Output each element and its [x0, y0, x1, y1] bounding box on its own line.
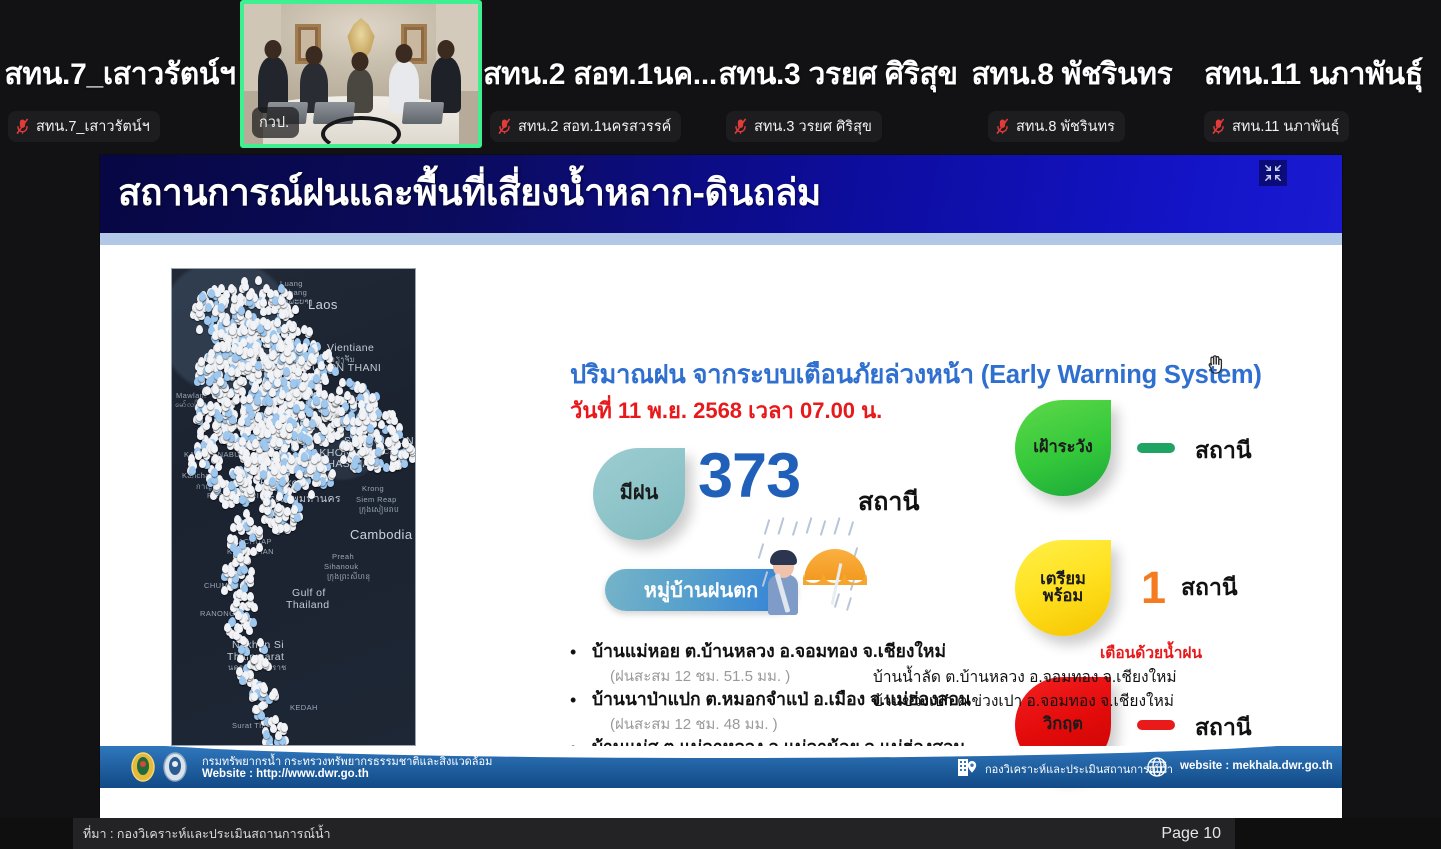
- map-station-pin: [223, 487, 230, 496]
- map-station-pin: [274, 318, 281, 327]
- map-station-pin: [296, 470, 303, 479]
- participant-nametag: สทน.3 วรยศ ศิริสุข: [726, 111, 882, 142]
- map-station-pin: [236, 522, 243, 531]
- map-station-pin: [241, 565, 248, 574]
- map-station-pin: [252, 439, 259, 448]
- map-station-pin: [233, 598, 240, 607]
- map-station-pin: [260, 470, 267, 479]
- map-station-pin: [292, 305, 299, 314]
- map-station-pin: [401, 459, 408, 468]
- collapse-arrows-icon[interactable]: [1259, 160, 1287, 186]
- video-participant-strip: สทน.7_เสาวรัตน์ฯ สทน.7_เสาวรัตน์ฯ: [0, 0, 1441, 155]
- map-station-pin: [198, 357, 205, 366]
- map-station-pin: [211, 444, 218, 453]
- map-station-pin: [391, 446, 398, 455]
- map-station-pin: [275, 503, 282, 512]
- globe-icon: [1145, 755, 1169, 779]
- map-station-pin: [257, 324, 264, 333]
- map-station-pin: [216, 413, 223, 422]
- shared-slide: สถานการณ์ฝนและพื้นที่เสี่ยงน้ำหลาก-ดินถล…: [100, 155, 1342, 818]
- map-station-pin: [260, 298, 267, 307]
- map-place-label: KEDAH: [290, 703, 318, 712]
- status-summary: เฝ้าระวัง สถานี เตรียมพร้อม 1 สถานี วิกฤ…: [1005, 245, 1365, 665]
- status-prepare-unit: สถานี: [1181, 570, 1238, 606]
- map-station-pin: [275, 731, 282, 740]
- rain-station-unit: สถานี: [858, 482, 920, 522]
- map-station-pin: [250, 547, 257, 556]
- map-station-pin: [285, 392, 292, 401]
- map-station-pin: [246, 626, 253, 635]
- map-place-label: Laos: [308, 297, 338, 312]
- participant-display-name: สทน.3 วรยศ ศิริสุข: [718, 51, 957, 98]
- map-station-pin: [281, 324, 288, 333]
- participant-display-name: สทน.7_เสาวรัตน์ฯ: [4, 51, 235, 98]
- map-station-pin: [306, 408, 313, 417]
- map-station-pin: [222, 500, 229, 509]
- map-station-pin: [329, 469, 336, 478]
- map-station-pin: [269, 351, 276, 360]
- map-station-pin: [246, 394, 253, 403]
- status-drop-prepare: เตรียมพร้อม: [1015, 540, 1111, 636]
- slide-title: สถานการณ์ฝนและพื้นที่เสี่ยงน้ำหลาก-ดินถล…: [118, 163, 821, 222]
- status-drop-prepare-label: เตรียมพร้อม: [1040, 571, 1086, 606]
- map-station-pin: [301, 452, 308, 461]
- map-station-pin: [207, 401, 214, 410]
- slide-content: ปริมาณฝน จากระบบเตือนภัยล่วงหน้า (Early …: [440, 245, 1342, 788]
- map-station-pin: [236, 346, 243, 355]
- village-bullet-item: •บ้านแม่หอย ต.บ้านหลวง อ.จอมทอง จ.เชียงใ…: [570, 640, 971, 664]
- map-station-pin: [317, 463, 324, 472]
- map-station-pin: [196, 308, 203, 317]
- map-station-pin: [269, 691, 276, 700]
- map-station-pin: [267, 289, 274, 298]
- map-station-pin: [205, 364, 212, 373]
- participant-nametag: สทน.11 นภาพันธุ์: [1204, 111, 1349, 142]
- participant-nametag: กวป.: [252, 107, 299, 138]
- map-station-pin: [322, 376, 329, 385]
- map-station-pin: [284, 347, 291, 356]
- bottom-status-bar: ที่มา : กองวิเคราะห์และประเมินสถานการณ์น…: [0, 818, 1441, 849]
- section-date: วันที่ 11 พ.ย. 2568 เวลา 07.00 น.: [570, 393, 882, 428]
- map-station-pin: [203, 421, 210, 430]
- map-station-pin: [204, 386, 211, 395]
- map-station-pin: [228, 568, 235, 577]
- map-station-pin: [212, 421, 219, 430]
- map-station-pin: [298, 356, 305, 365]
- map-station-pin: [264, 506, 271, 515]
- map-station-pin: [250, 321, 257, 330]
- map-station-pin: [272, 525, 279, 534]
- footer-website: website : mekhala.dwr.go.th: [1180, 760, 1333, 772]
- village-name: บ้านแม่หอย ต.บ้านหลวง อ.จอมทอง จ.เชียงให…: [592, 640, 946, 664]
- map-station-pin: [262, 658, 269, 667]
- map-station-pin: [229, 326, 236, 335]
- map-station-pin: [284, 507, 291, 516]
- map-station-pin: [269, 477, 276, 486]
- map-station-pin: [293, 404, 300, 413]
- map-station-pin: [309, 419, 316, 428]
- footer-org-line-2: Website : http://www.dwr.go.th: [202, 768, 369, 780]
- map-station-pin: [375, 447, 382, 456]
- video-tile-5[interactable]: สทน.11 นภาพันธุ์ สทน.11 นภาพันธุ์: [1186, 0, 1441, 148]
- map-station-pin: [346, 378, 353, 387]
- map-station-pin: [247, 517, 254, 526]
- map-station-pin: [344, 391, 351, 400]
- map-station-pin: [255, 483, 262, 492]
- map-station-pin: [224, 398, 231, 407]
- map-station-pin: [306, 327, 313, 336]
- map-station-pin: [367, 424, 374, 433]
- status-critical-unit: สถานี: [1195, 710, 1252, 746]
- slide-source-text: ที่มา : กองวิเคราะห์และประเมินสถานการณ์น…: [83, 824, 331, 844]
- map-station-pin: [251, 384, 258, 393]
- page-indicator: Page 10: [1161, 818, 1221, 849]
- map-station-pin: [321, 426, 328, 435]
- map-station-pin: [328, 434, 335, 443]
- map-station-pin: [257, 638, 264, 647]
- map-station-pin: [241, 326, 248, 335]
- map-place-label: ក្រុងព្រះសីហនុ: [327, 572, 371, 583]
- rain-drop-label: มีฝน: [620, 483, 659, 504]
- mic-muted-icon: [497, 118, 512, 135]
- rain-warning-title: เตือนด้วยน้ำฝน: [1100, 640, 1202, 665]
- participant-display-name: สทน.2 สอท.1นค...: [483, 51, 717, 98]
- participant-nametag-label: สทน.7_เสาวรัตน์ฯ: [36, 115, 150, 138]
- map-station-pin: [266, 397, 273, 406]
- rain-drop-badge: มีฝน: [593, 448, 685, 540]
- map-station-pin: [283, 523, 290, 532]
- map-place-label: Thailand: [286, 599, 329, 611]
- map-station-pin: [199, 459, 206, 468]
- map-station-pin: [340, 455, 347, 464]
- map-station-pin: [265, 406, 272, 415]
- map-station-pin: [313, 472, 320, 481]
- map-station-pin: [246, 291, 253, 300]
- map-station-pin: [280, 465, 287, 474]
- map-station-pin: [295, 367, 302, 376]
- video-tile-1-active-speaker[interactable]: กวป.: [240, 0, 482, 148]
- map-station-pin: [233, 631, 240, 640]
- slide-header: สถานการณ์ฝนและพื้นที่เสี่ยงน้ำหลาก-ดินถล…: [100, 155, 1342, 233]
- status-watch-value-dash: [1137, 443, 1175, 453]
- map-station-pin: [239, 437, 246, 446]
- hand-cursor-icon: [1205, 352, 1227, 376]
- bullet-glyph: •: [570, 688, 592, 712]
- map-station-pin: [240, 636, 247, 645]
- map-station-pin: [328, 393, 335, 402]
- map-station-pin: [290, 379, 297, 388]
- map-station-pin: [292, 442, 299, 451]
- map-station-pin: [281, 723, 288, 732]
- map-station-pin: [385, 438, 392, 447]
- map-station-pin: [279, 390, 286, 399]
- map-station-pin: [255, 276, 262, 285]
- rain-umbrella-illustration: [758, 517, 868, 615]
- participant-nametag: สทน.8 พัชรินทร: [988, 111, 1125, 142]
- map-station-pin: [313, 396, 320, 405]
- video-tile-0[interactable]: สทน.7_เสาวรัตน์ฯ สทน.7_เสาวรัตน์ฯ: [0, 0, 240, 148]
- village-rain-detail: (ฝนสะสม 12 ชม. 48 มม. ): [610, 714, 971, 736]
- video-tile-3[interactable]: สทน.3 วรยศ ศิริสุข สทน.3 วรยศ ศิริสุข: [718, 0, 958, 148]
- map-station-pin: [254, 396, 261, 405]
- map-station-pin: [334, 431, 341, 440]
- thailand-rain-station-map[interactable]: LuangPrabangຫຼວງພະບາງLaosVientianeວຽງຈັນ…: [171, 268, 416, 746]
- map-station-pin: [259, 701, 266, 710]
- participant-display-name: สทน.8 พัชรินทร: [972, 51, 1173, 98]
- app-root: สทน.7_เสาวรัตน์ฯ สทน.7_เสาวรัตน์ฯ: [0, 0, 1441, 849]
- map-station-pin: [247, 574, 254, 583]
- slide-source-note: ที่มา : กองวิเคราะห์และประเมินสถานการณ์น…: [73, 818, 1235, 849]
- participant-nametag-label: สทน.2 สอท.1นครสวรรค์: [518, 115, 671, 138]
- map-station-pin: [286, 423, 293, 432]
- participant-nametag-label: สทน.11 นภาพันธุ์: [1232, 115, 1339, 138]
- map-station-pin: [369, 393, 376, 402]
- slide-accent-band: [100, 233, 1342, 245]
- map-station-pin: [271, 305, 278, 314]
- mic-muted-icon: [995, 118, 1010, 135]
- map-station-pin: [308, 490, 315, 499]
- map-station-pin: [271, 334, 278, 343]
- map-place-label: ក្រុងសៀមរាប: [359, 505, 399, 516]
- participant-display-name: สทน.11 นภาพันธุ์: [1204, 51, 1423, 98]
- status-drop-critical-label: วิกฤต: [1043, 716, 1083, 733]
- map-station-pin: [255, 369, 262, 378]
- status-drop-watch-label: เฝ้าระวัง: [1033, 439, 1093, 456]
- map-station-pin: [212, 385, 219, 394]
- map-station-pin: [235, 611, 242, 620]
- map-station-pin: [332, 367, 339, 376]
- map-station-pin: [256, 543, 263, 552]
- map-station-pin: [238, 306, 245, 315]
- slide-footer: กรมทรัพยากรน้ำ กระทรวงทรัพยากรธรรมชาติแล…: [100, 746, 1342, 788]
- map-station-pin: [294, 482, 301, 491]
- map-place-label: Sihanouk: [324, 562, 358, 571]
- map-station-pin: [260, 307, 267, 316]
- map-station-pin: [392, 433, 399, 442]
- ministry-seal-icon: [162, 752, 188, 782]
- map-place-label: Siem Reap: [356, 495, 397, 504]
- map-place-label: Gulf of: [292, 587, 326, 599]
- map-station-pin: [368, 456, 375, 465]
- garuda-crest-icon: [130, 752, 156, 782]
- bullet-glyph: •: [570, 640, 592, 664]
- rain-station-count: 373: [698, 445, 800, 508]
- map-station-pin: [221, 586, 228, 595]
- map-station-pin: [287, 495, 294, 504]
- map-place-label: Vientiane: [327, 342, 374, 354]
- map-station-pin: [255, 361, 262, 370]
- map-station-pin: [251, 692, 258, 701]
- map-station-pin: [269, 388, 276, 397]
- map-place-label: Preah: [332, 552, 354, 561]
- map-place-label: Krong: [362, 484, 384, 493]
- map-station-pin: [274, 378, 281, 387]
- map-station-pin: [321, 399, 328, 408]
- status-prepare-value: 1: [1141, 565, 1166, 610]
- map-station-pin: [352, 438, 359, 447]
- map-station-pin: [204, 316, 211, 325]
- map-station-pin: [237, 376, 244, 385]
- participant-nametag: สทน.7_เสาวรัตน์ฯ: [8, 111, 160, 142]
- status-watch-unit: สถานี: [1195, 433, 1252, 469]
- map-station-pin: [359, 447, 366, 456]
- map-station-pin: [264, 429, 271, 438]
- map-station-pin: [321, 390, 328, 399]
- map-station-pin: [279, 477, 286, 486]
- map-station-pin: [301, 372, 308, 381]
- map-station-pin: [196, 412, 203, 421]
- participant-nametag-label: กวป.: [259, 111, 289, 134]
- participant-nametag: สทน.2 สอท.1นครสวรรค์: [490, 111, 681, 142]
- status-critical-value-dash: [1137, 720, 1175, 730]
- participant-nametag-label: สทน.3 วรยศ ศิริสุข: [754, 115, 872, 138]
- map-station-pin: [247, 592, 254, 601]
- mic-muted-icon: [1211, 118, 1226, 135]
- slide-body: LuangPrabangຫຼວງພະບາງLaosVientianeວຽງຈັນ…: [100, 245, 1342, 788]
- map-station-pin: [289, 323, 296, 332]
- map-station-pin: [217, 377, 224, 386]
- map-station-pin: [322, 351, 329, 360]
- map-station-pin: [370, 412, 377, 421]
- map-station-pin: [402, 439, 409, 448]
- map-station-pin: [237, 553, 244, 562]
- map-station-pin: [208, 289, 215, 298]
- map-place-label: Cambodia: [350, 527, 412, 542]
- map-station-pin: [196, 301, 203, 310]
- map-station-pin: [236, 473, 243, 482]
- mic-muted-icon: [733, 118, 748, 135]
- building-pin-icon: [955, 755, 979, 779]
- map-station-pin: [366, 435, 373, 444]
- map-station-pin: [338, 407, 345, 416]
- status-drop-watch: เฝ้าระวัง: [1015, 400, 1111, 496]
- video-tile-2[interactable]: สทน.2 สอท.1นค... สทน.2 สอท.1นครสวรรค์: [482, 0, 718, 148]
- map-station-pin: [311, 455, 318, 464]
- map-station-pin: [196, 325, 203, 334]
- video-tile-4[interactable]: สทน.8 พัชรินทร สทน.8 พัชรินทร: [958, 0, 1186, 148]
- map-station-pin: [366, 403, 373, 412]
- mic-muted-icon: [15, 118, 30, 135]
- map-station-pin: [339, 378, 346, 387]
- map-station-pin: [391, 416, 398, 425]
- map-station-pin: [278, 296, 285, 305]
- map-station-pin: [305, 436, 312, 445]
- map-station-pin: [262, 442, 269, 451]
- map-station-pin: [199, 292, 206, 301]
- participant-nametag-label: สทน.8 พัชรินทร: [1016, 115, 1115, 138]
- map-station-pin: [263, 730, 270, 739]
- rain-warning-line-1: บ้านน้ำลัด ต.บ้านหลวง อ.จอมทอง จ.เชียงให…: [873, 664, 1177, 689]
- map-station-pin: [264, 321, 271, 330]
- map-station-pin: [288, 455, 295, 464]
- map-station-pin: [245, 362, 252, 371]
- map-station-pin: [263, 497, 270, 506]
- rain-warning-line-2: บ้านข่วงเปา ต.ข่วงเปา อ.จอมทอง จ.เชียงให…: [873, 688, 1174, 713]
